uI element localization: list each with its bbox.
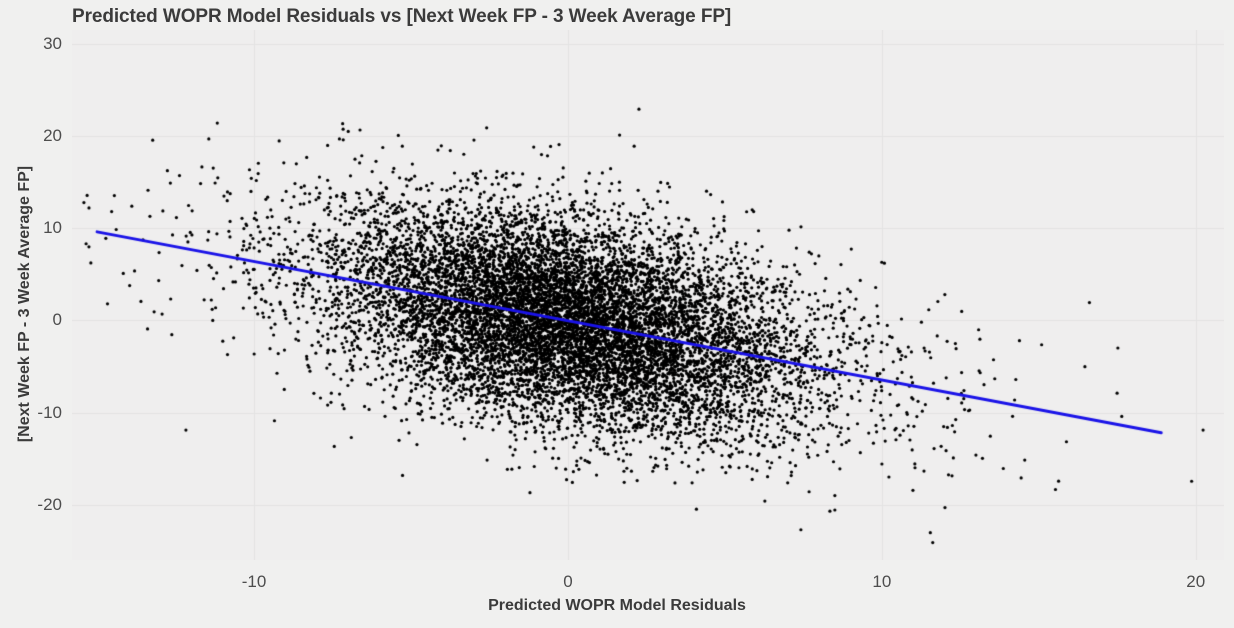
y-axis-title: [Next Week FP - 3 Week Average FP] [16,24,34,584]
x-tick-label: 10 [872,572,891,592]
page-title: Predicted WOPR Model Residuals vs [Next … [72,6,731,28]
scatter-canvas [72,30,1224,560]
x-tick-label: 20 [1186,572,1205,592]
x-tick-label: 0 [563,572,572,592]
x-axis-title: Predicted WOPR Model Residuals [0,597,1234,615]
scatter-plot-figure: Predicted WOPR Model Residuals vs [Next … [0,0,1234,628]
plot-panel [72,30,1224,560]
x-tick-label: -10 [242,572,267,592]
